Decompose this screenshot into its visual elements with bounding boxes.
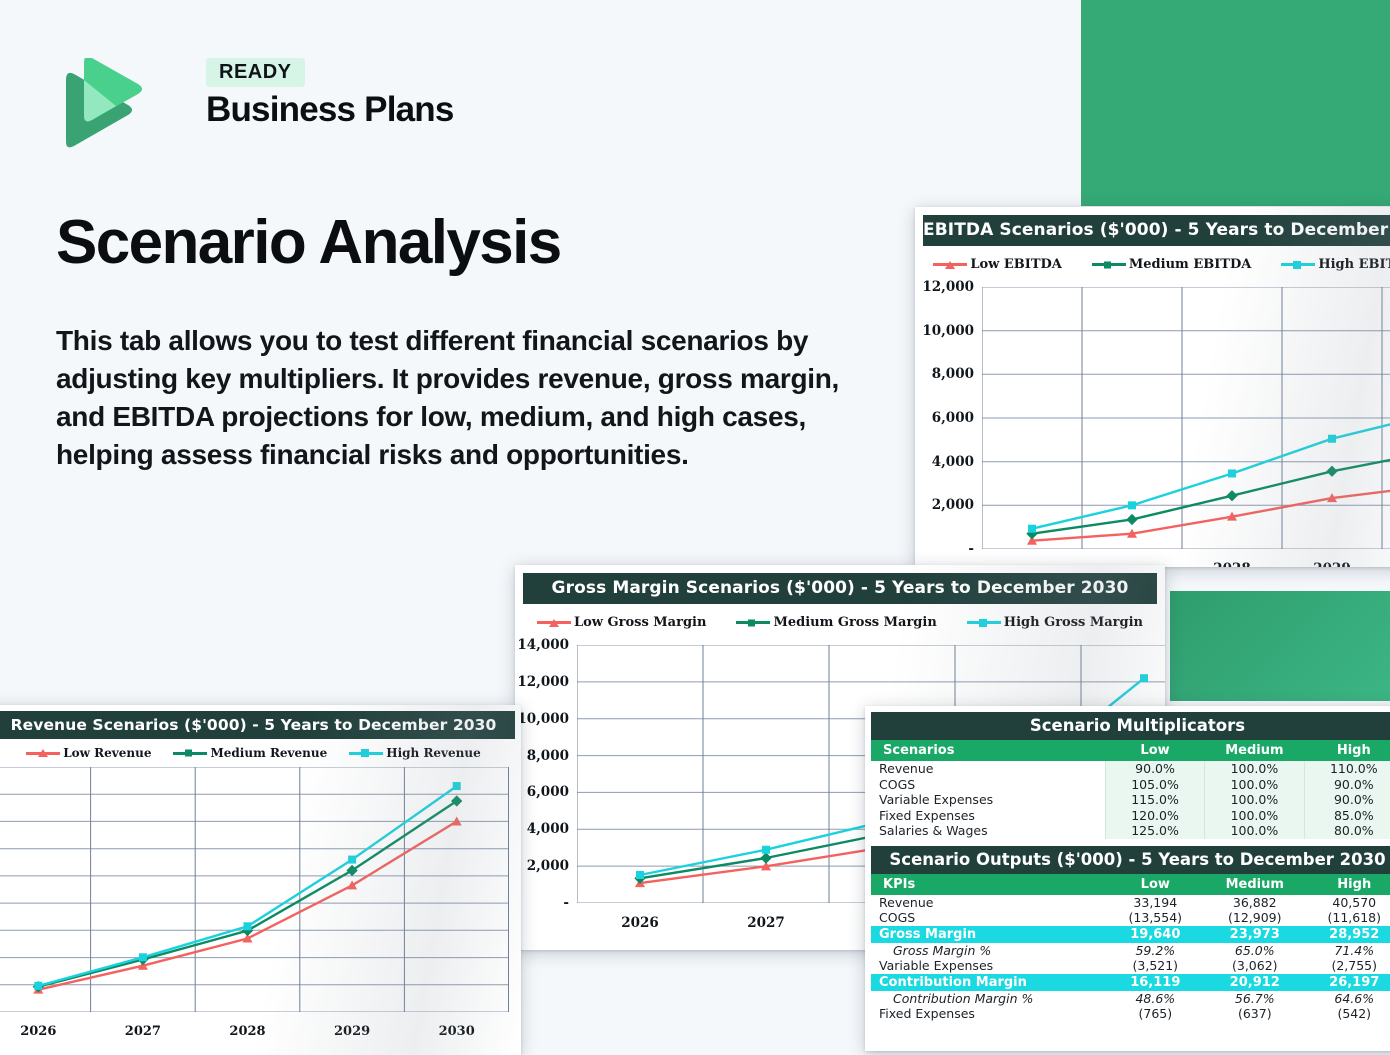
row-value: (2,755) xyxy=(1305,958,1390,974)
row-label: COGS xyxy=(871,777,1105,793)
legend-label-high: High Gross Margin xyxy=(1004,615,1143,630)
diamond-marker-icon xyxy=(185,750,192,757)
row-value: 16,119 xyxy=(1106,974,1205,991)
row-value: 48.6% xyxy=(1106,991,1205,1007)
x-axis-tick-label: 2028 xyxy=(1197,561,1267,567)
legend-line-medium xyxy=(736,621,770,624)
y-axis-tick-label: 12,000 xyxy=(515,674,569,690)
revenue-plot: 20262027202820292030 xyxy=(0,767,509,1012)
x-axis-tick-label: 2029 xyxy=(317,1024,387,1039)
row-value: 90.0% xyxy=(1105,761,1204,777)
col-header-kpis: KPIs xyxy=(871,874,1106,895)
legend-label-high: High EBITDA xyxy=(1318,257,1390,272)
row-value: (3,062) xyxy=(1205,958,1304,974)
table-header-row: KPIs Low Medium High xyxy=(871,874,1390,895)
x-axis-tick-label: 2027 xyxy=(108,1024,178,1039)
row-value: 100.0% xyxy=(1205,777,1304,793)
row-label: Fixed Expenses xyxy=(871,1006,1106,1022)
x-axis-tick-label: 2026 xyxy=(605,915,675,931)
row-label: COGS xyxy=(871,910,1106,926)
row-value: 105.0% xyxy=(1105,777,1204,793)
y-axis-tick-label: 14,000 xyxy=(515,637,569,653)
col-header-medium: Medium xyxy=(1205,874,1304,895)
revenue-chart-legend: Low Revenue Medium Revenue High Revenue xyxy=(0,746,521,760)
row-value: 120.0% xyxy=(1105,808,1204,824)
row-value: 80.0% xyxy=(1304,823,1390,839)
row-value: 36,882 xyxy=(1205,895,1304,911)
y-axis-tick-label: 10,000 xyxy=(515,711,569,727)
row-value: 23,973 xyxy=(1205,926,1304,943)
legend-line-medium xyxy=(173,752,207,755)
row-value: 125.0% xyxy=(1105,823,1204,839)
legend-line-low xyxy=(26,752,60,755)
row-value: 100.0% xyxy=(1205,808,1304,824)
row-label: Contribution Margin xyxy=(871,974,1106,991)
scenario-tables-card: Scenario Multiplicators Scenarios Low Me… xyxy=(865,706,1390,1051)
col-header-medium: Medium xyxy=(1205,740,1304,761)
row-label: Gross Margin xyxy=(871,926,1106,943)
decorative-green-block-middle xyxy=(1170,591,1390,701)
legend-label-low: Low Gross Margin xyxy=(574,615,706,630)
triangle-marker-icon xyxy=(38,749,48,757)
row-value: (542) xyxy=(1305,1006,1390,1022)
row-value: 100.0% xyxy=(1205,792,1304,808)
y-axis-tick-label: 8,000 xyxy=(515,748,569,764)
multiplicators-table: Scenarios Low Medium High Revenue90.0%10… xyxy=(871,740,1390,839)
x-axis-tick-label: 2030 xyxy=(422,1024,492,1039)
ebitda-chart-title: EBITDA Scenarios ($'000) - 5 Years to De… xyxy=(923,215,1390,246)
row-label: Gross Margin % xyxy=(871,943,1106,959)
outputs-banner: Scenario Outputs ($'000) - 5 Years to De… xyxy=(871,846,1390,874)
row-value: (12,909) xyxy=(1205,910,1304,926)
revenue-chart-card: Revenue Scenarios ($'000) - 5 Years to D… xyxy=(0,705,521,1055)
ebitda-plot: -2,0004,0006,0008,00010,00012,0002028202… xyxy=(982,287,1390,549)
x-axis-tick-label: 2027 xyxy=(731,915,801,931)
legend-label-medium: Medium Revenue xyxy=(210,746,327,760)
page-description: This tab allows you to test different fi… xyxy=(56,322,856,474)
brand-badge: READY xyxy=(206,58,305,87)
row-value: 115.0% xyxy=(1105,792,1204,808)
row-label: Revenue xyxy=(871,761,1105,777)
row-value: 33,194 xyxy=(1106,895,1205,911)
diamond-marker-icon xyxy=(1104,261,1111,268)
y-axis-tick-label: 10,000 xyxy=(915,323,974,339)
gross-margin-chart-title: Gross Margin Scenarios ($'000) - 5 Years… xyxy=(523,573,1157,604)
x-axis-tick-label: 2029 xyxy=(1297,561,1367,567)
row-value: 28,952 xyxy=(1305,926,1390,943)
multiplicators-banner: Scenario Multiplicators xyxy=(871,712,1390,740)
y-axis-tick-label: 6,000 xyxy=(515,784,569,800)
row-value: 64.6% xyxy=(1305,991,1390,1007)
table-row: Gross Margin %59.2%65.0%71.4% xyxy=(871,943,1390,959)
outputs-table-body: Revenue33,19436,88240,570COGS(13,554)(12… xyxy=(871,895,1390,1022)
multiplicators-table-body: Revenue90.0%100.0%110.0%COGS105.0%100.0%… xyxy=(871,761,1390,839)
table-row: Contribution Margin %48.6%56.7%64.6% xyxy=(871,991,1390,1007)
table-row: Revenue90.0%100.0%110.0% xyxy=(871,761,1390,777)
row-label: Fixed Expenses xyxy=(871,808,1105,824)
legend-item-low: Low EBITDA xyxy=(933,257,1062,272)
brand-name: Business Plans xyxy=(206,92,506,129)
legend-label-medium: Medium EBITDA xyxy=(1129,257,1251,272)
diamond-marker-icon xyxy=(748,619,755,626)
square-marker-icon xyxy=(361,749,369,757)
row-value: 85.0% xyxy=(1304,808,1390,824)
row-value: 71.4% xyxy=(1305,943,1390,959)
row-value: (3,521) xyxy=(1106,958,1205,974)
table-header-row: Scenarios Low Medium High xyxy=(871,740,1390,761)
table-row: Fixed Expenses120.0%100.0%85.0% xyxy=(871,808,1390,824)
y-axis-tick-label: 4,000 xyxy=(515,821,569,837)
col-header-high: High xyxy=(1304,740,1390,761)
row-value: (637) xyxy=(1205,1006,1304,1022)
row-value: (13,554) xyxy=(1106,910,1205,926)
col-header-high: High xyxy=(1305,874,1390,895)
row-value: (765) xyxy=(1106,1006,1205,1022)
row-value: 56.7% xyxy=(1205,991,1304,1007)
brand-logo: READY Business Plans xyxy=(56,58,456,158)
legend-label-medium: Medium Gross Margin xyxy=(773,615,936,630)
ebitda-chart-card: EBITDA Scenarios ($'000) - 5 Years to De… xyxy=(915,207,1390,567)
row-label: Salaries & Wages xyxy=(871,823,1105,839)
legend-line-high xyxy=(1281,263,1315,266)
legend-line-high xyxy=(967,621,1001,624)
legend-item-low: Low Revenue xyxy=(26,746,151,760)
play-triangle-logo-icon xyxy=(56,58,142,150)
row-value: 20,912 xyxy=(1205,974,1304,991)
y-axis-tick-label: 2,000 xyxy=(515,858,569,874)
table-row: Salaries & Wages125.0%100.0%80.0% xyxy=(871,823,1390,839)
outputs-table: KPIs Low Medium High Revenue33,19436,882… xyxy=(871,874,1390,1022)
legend-line-high xyxy=(349,752,383,755)
y-axis-tick-label: 2,000 xyxy=(915,497,974,513)
square-marker-icon xyxy=(1293,261,1301,269)
col-header-scenarios: Scenarios xyxy=(871,740,1105,761)
table-row: COGS(13,554)(12,909)(11,618) xyxy=(871,910,1390,926)
row-value: 100.0% xyxy=(1205,761,1304,777)
row-label: Variable Expenses xyxy=(871,792,1105,808)
table-row: Gross Margin19,64023,97328,952 xyxy=(871,926,1390,943)
legend-item-medium: Medium Revenue xyxy=(173,746,327,760)
legend-line-low xyxy=(537,621,571,624)
row-value: 65.0% xyxy=(1205,943,1304,959)
y-axis-tick-label: 4,000 xyxy=(915,454,974,470)
revenue-chart-title: Revenue Scenarios ($'000) - 5 Years to D… xyxy=(0,711,515,739)
legend-item-high: High Revenue xyxy=(349,746,481,760)
row-value: 90.0% xyxy=(1304,777,1390,793)
legend-line-medium xyxy=(1092,263,1126,266)
row-value: 26,197 xyxy=(1305,974,1390,991)
gross-margin-chart-legend: Low Gross Margin Medium Gross Margin Hig… xyxy=(515,615,1165,630)
legend-item-low: Low Gross Margin xyxy=(537,615,706,630)
legend-item-medium: Medium Gross Margin xyxy=(736,615,936,630)
row-value: 59.2% xyxy=(1106,943,1205,959)
y-axis-tick-label: - xyxy=(515,895,569,911)
row-label: Variable Expenses xyxy=(871,958,1106,974)
legend-item-high: High EBITDA xyxy=(1281,257,1390,272)
table-row: COGS105.0%100.0%90.0% xyxy=(871,777,1390,793)
decorative-green-block-top xyxy=(1081,0,1390,206)
x-axis-tick-label: 2026 xyxy=(3,1024,73,1039)
row-value: 110.0% xyxy=(1304,761,1390,777)
row-value: 100.0% xyxy=(1205,823,1304,839)
col-header-low: Low xyxy=(1106,874,1205,895)
legend-label-low: Low Revenue xyxy=(63,746,151,760)
row-value: 19,640 xyxy=(1106,926,1205,943)
ebitda-chart-legend: Low EBITDA Medium EBITDA High EBITDA xyxy=(915,257,1390,272)
legend-label-low: Low EBITDA xyxy=(970,257,1062,272)
row-value: (11,618) xyxy=(1305,910,1390,926)
legend-label-high: High Revenue xyxy=(386,746,481,760)
table-row: Contribution Margin16,11920,91226,197 xyxy=(871,974,1390,991)
y-axis-tick-label: 6,000 xyxy=(915,410,974,426)
legend-item-medium: Medium EBITDA xyxy=(1092,257,1251,272)
y-axis-tick-label: - xyxy=(915,541,974,557)
triangle-marker-icon xyxy=(549,619,559,627)
x-axis-tick-label: 2028 xyxy=(213,1024,283,1039)
y-axis-tick-label: 8,000 xyxy=(915,366,974,382)
table-row: Variable Expenses(3,521)(3,062)(2,755) xyxy=(871,958,1390,974)
row-value: 40,570 xyxy=(1305,895,1390,911)
table-row: Variable Expenses115.0%100.0%90.0% xyxy=(871,792,1390,808)
row-label: Revenue xyxy=(871,895,1106,911)
legend-item-high: High Gross Margin xyxy=(967,615,1143,630)
row-value: 90.0% xyxy=(1304,792,1390,808)
triangle-marker-icon xyxy=(945,261,955,269)
y-axis-tick-label: 12,000 xyxy=(915,279,974,295)
legend-line-low xyxy=(933,263,967,266)
table-row: Revenue33,19436,88240,570 xyxy=(871,895,1390,911)
table-row: Fixed Expenses(765)(637)(542) xyxy=(871,1006,1390,1022)
square-marker-icon xyxy=(979,619,987,627)
page-title: Scenario Analysis xyxy=(56,210,876,275)
row-label: Contribution Margin % xyxy=(871,991,1106,1007)
col-header-low: Low xyxy=(1105,740,1204,761)
